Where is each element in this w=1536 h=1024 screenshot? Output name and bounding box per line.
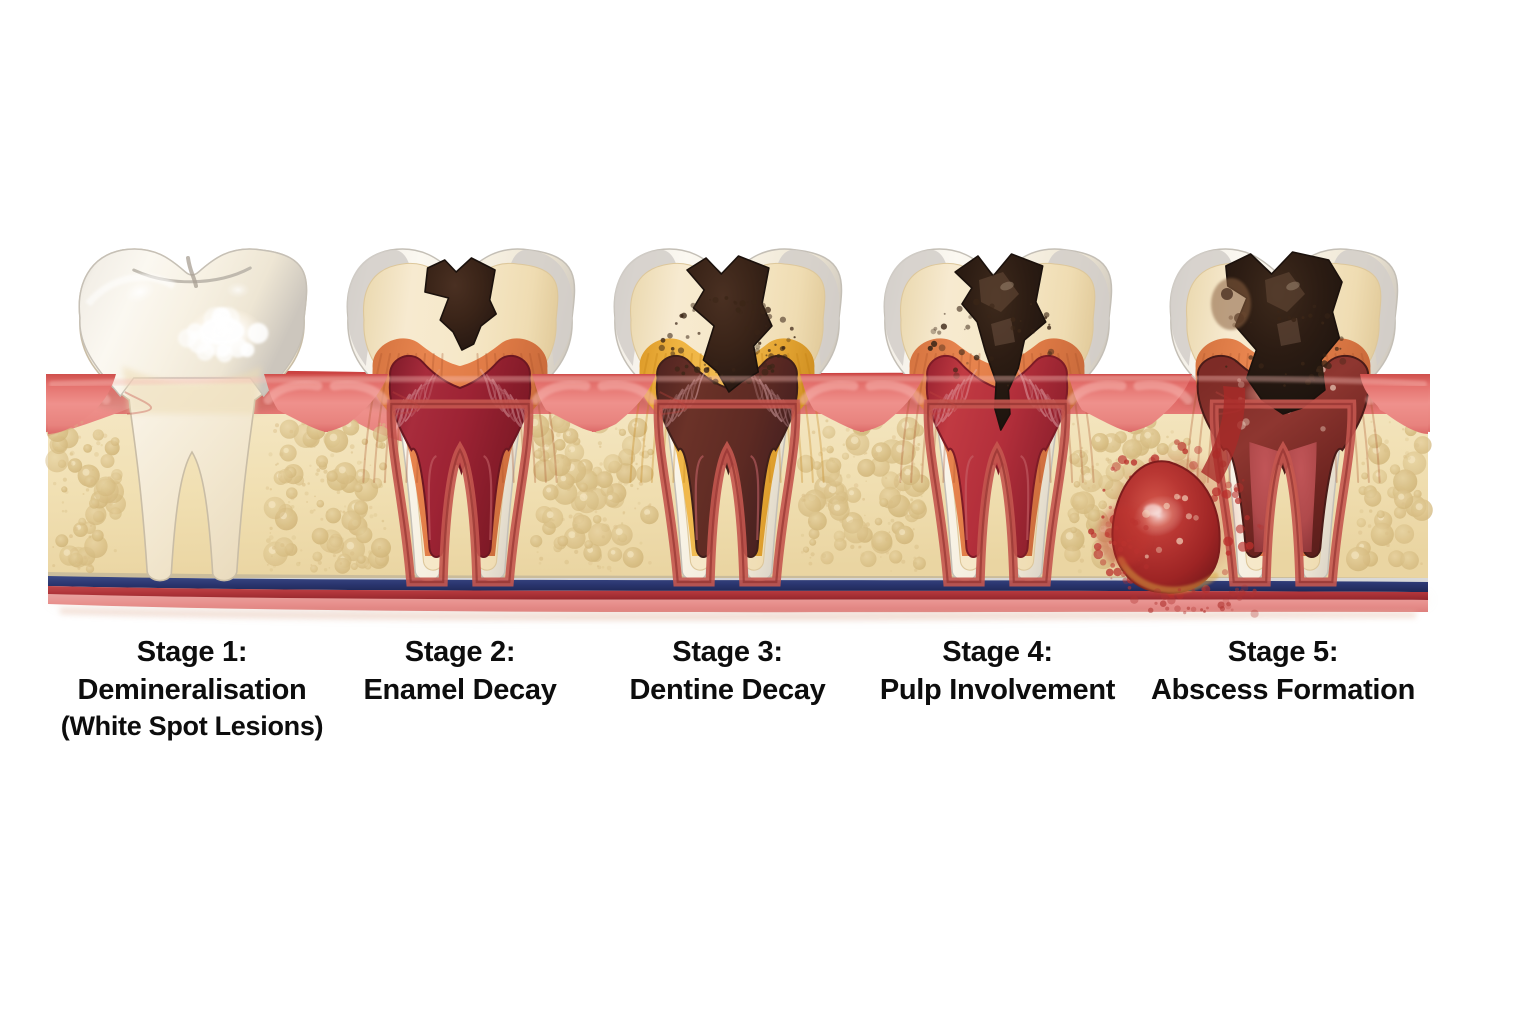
caries-progression-diagram bbox=[0, 0, 1536, 1024]
illustration-canvas: Stage 1: Demineralisation (White Spot Le… bbox=[0, 0, 1536, 1024]
enamel-stain bbox=[1211, 278, 1251, 330]
